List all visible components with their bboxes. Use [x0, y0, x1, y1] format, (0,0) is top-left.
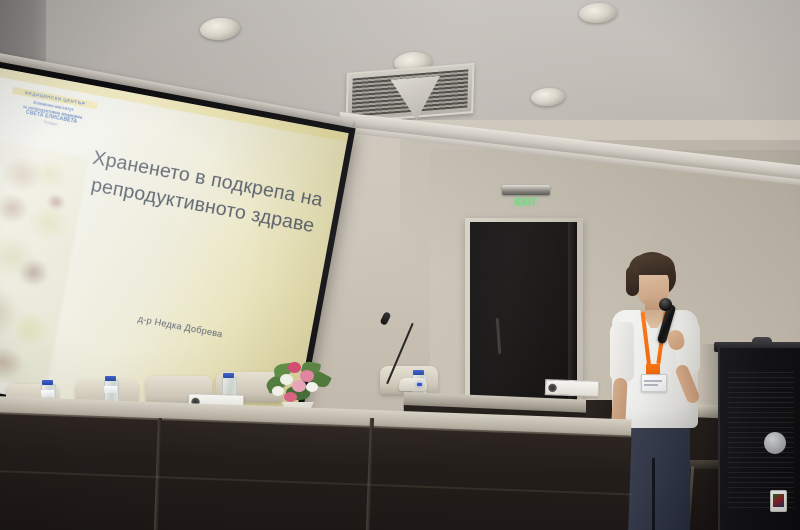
presenter-sleeve-left	[610, 322, 634, 382]
bouquet-flower	[284, 392, 297, 402]
bottle-cap	[413, 370, 424, 375]
rack-sticker-image	[773, 494, 784, 507]
bouquet-flower	[272, 386, 284, 396]
presenter-name-badge	[641, 374, 667, 392]
placard-name	[559, 383, 597, 384]
placard-text	[202, 397, 242, 398]
rack-sticker	[770, 490, 787, 512]
presenter-leg-split	[652, 458, 655, 530]
bouquet-flower	[288, 362, 301, 373]
slide-author: д-р Недка Добрева	[63, 300, 297, 353]
name-placard	[545, 379, 599, 397]
slide-logo: МЕДИЦИНСКИ ЦЕНТЪР Клиничен институт за р…	[8, 87, 98, 133]
conference-room-photo: МЕДИЦИНСКИ ЦЕНТЪР Клиничен институт за р…	[0, 0, 800, 530]
badge-text-line	[644, 380, 662, 382]
exit-sign-label: EXIT	[505, 197, 547, 207]
equipment-rack[interactable]	[718, 348, 800, 530]
bottle-cap	[223, 373, 234, 378]
rack-round-label	[764, 432, 786, 454]
exit-sign-housing	[502, 185, 550, 195]
bottle-label	[41, 390, 54, 397]
bouquet-flower	[306, 382, 318, 392]
placard-logo-icon	[548, 383, 557, 392]
presenter-hair-side	[626, 266, 639, 296]
slide-food-photo	[0, 140, 90, 390]
bottle-cap	[105, 376, 116, 381]
slide-title: Храненето в подкрепа на репродуктивното …	[84, 145, 326, 241]
bouquet-flower	[292, 380, 306, 392]
placard-name	[202, 397, 242, 398]
placard-text	[559, 383, 597, 384]
bouquet-flower	[280, 374, 293, 385]
bottle-label	[104, 386, 117, 393]
bottle-cap	[42, 380, 53, 385]
microphone-led-indicator	[417, 383, 422, 386]
badge-text-line	[644, 384, 658, 386]
gooseneck-microphone-base[interactable]	[399, 378, 427, 391]
